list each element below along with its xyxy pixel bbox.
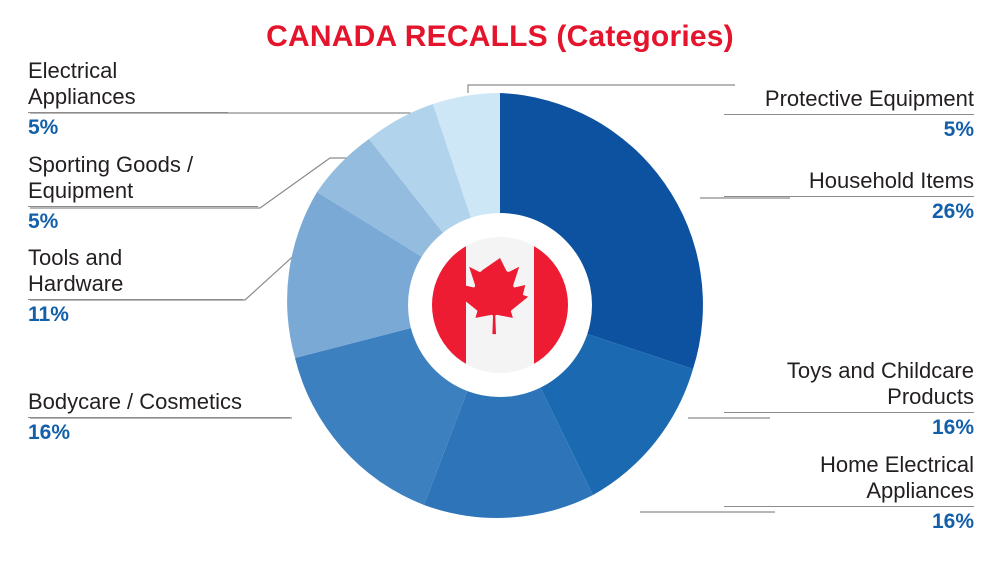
canada-flag-emblem (412, 217, 588, 393)
callout-percent: 5% (28, 210, 258, 234)
callout-rule (724, 114, 974, 115)
pie-chart-figure: CANADA RECALLS (Categories) (0, 0, 1000, 567)
callout-percent: 5% (28, 116, 228, 140)
callout-rule (28, 206, 258, 207)
callout-label: Tools and Hardware (28, 245, 243, 297)
callout-protective-equipment: Protective Equipment 5% (724, 86, 974, 142)
callout-rule (28, 112, 228, 113)
callout-home-electrical-appliances: Home Electrical Appliances 16% (724, 452, 974, 534)
callout-tools-and-hardware: Tools and Hardware 11% (28, 245, 243, 327)
callout-percent: 26% (724, 200, 974, 224)
callout-label: Bodycare / Cosmetics (28, 389, 290, 415)
callout-rule (724, 506, 974, 507)
callout-percent: 16% (724, 416, 974, 440)
callout-electrical-appliances: Electrical Appliances 5% (28, 58, 228, 140)
callout-percent: 11% (28, 303, 243, 327)
callout-toys-and-childcare-products: Toys and Childcare Products 16% (724, 358, 974, 440)
callout-household-items: Household Items 26% (724, 168, 974, 224)
callout-label: Protective Equipment (724, 86, 974, 112)
callout-percent: 16% (28, 421, 290, 445)
callout-label: Sporting Goods / Equipment (28, 152, 258, 204)
callout-label: Electrical Appliances (28, 58, 228, 110)
callout-label: Toys and Childcare Products (724, 358, 974, 410)
callout-percent: 5% (724, 118, 974, 142)
callout-rule (28, 417, 290, 418)
callout-rule (28, 299, 243, 300)
callout-rule (724, 196, 974, 197)
callout-label: Home Electrical Appliances (724, 452, 974, 504)
callout-bodycare-cosmetics: Bodycare / Cosmetics 16% (28, 389, 290, 445)
callout-sporting-goods-equipment: Sporting Goods / Equipment 5% (28, 152, 258, 234)
callout-label: Household Items (724, 168, 974, 194)
leader-line-protective-equipment (468, 85, 735, 93)
callout-percent: 16% (724, 510, 974, 534)
callout-rule (724, 412, 974, 413)
